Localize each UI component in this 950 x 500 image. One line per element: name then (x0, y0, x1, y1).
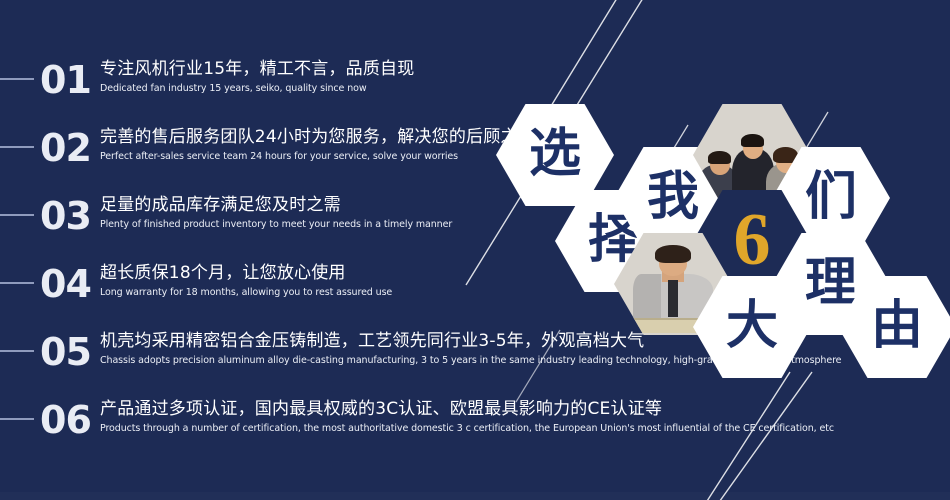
feature-title-en: Long warranty for 18 months, allowing yo… (100, 286, 392, 299)
feature-text-block: 产品通过多项认证，国内最具权威的3C认证、欧盟最具影响力的CE认证等 Produ… (100, 398, 834, 435)
feature-number: 02 (40, 126, 96, 170)
hex-label: 我 (647, 171, 699, 223)
feature-dash (0, 350, 34, 352)
bottom-band (0, 492, 950, 500)
feature-number: 04 (40, 262, 96, 306)
hex-label: 由 (871, 300, 923, 352)
hex-accent-number: 6 (734, 203, 771, 277)
feature-title-cn: 专注风机行业15年，精工不言，品质自现 (100, 58, 414, 81)
banner-stage: 01 专注风机行业15年，精工不言，品质自现 Dedicated fan ind… (0, 0, 950, 500)
feature-item: 03 足量的成品库存满足您及时之需 Plenty of finished pro… (0, 188, 452, 244)
feature-number: 01 (40, 58, 96, 102)
feature-item: 06 产品通过多项认证，国内最具权威的3C认证、欧盟最具影响力的CE认证等 Pr… (0, 392, 834, 448)
hex-label: 理 (805, 257, 857, 309)
feature-text-block: 足量的成品库存满足您及时之需 Plenty of finished produc… (100, 194, 452, 231)
feature-title-cn: 产品通过多项认证，国内最具权威的3C认证、欧盟最具影响力的CE认证等 (100, 398, 834, 421)
feature-item: 02 完善的售后服务团队24小时为您服务，解决您的后顾之忧 Perfect af… (0, 120, 535, 176)
feature-title-en: Plenty of finished product inventory to … (100, 218, 452, 231)
feature-dash (0, 146, 34, 148)
feature-text-block: 超长质保18个月，让您放心使用 Long warranty for 18 mon… (100, 262, 392, 299)
feature-item: 01 专注风机行业15年，精工不言，品质自现 Dedicated fan ind… (0, 52, 414, 108)
feature-title-en: Dedicated fan industry 15 years, seiko, … (100, 82, 414, 95)
hex-label: 选 (529, 128, 581, 180)
feature-number: 05 (40, 330, 96, 374)
feature-title-cn: 足量的成品库存满足您及时之需 (100, 194, 452, 217)
feature-dash (0, 78, 34, 80)
feature-item: 04 超长质保18个月，让您放心使用 Long warranty for 18 … (0, 256, 392, 312)
feature-dash (0, 282, 34, 284)
feature-number: 06 (40, 398, 96, 442)
feature-title-en: Perfect after-sales service team 24 hour… (100, 150, 535, 163)
feature-dash (0, 418, 34, 420)
hex-label: 们 (805, 171, 857, 223)
feature-number: 03 (40, 194, 96, 238)
feature-title-cn: 超长质保18个月，让您放心使用 (100, 262, 392, 285)
feature-dash (0, 214, 34, 216)
feature-text-block: 完善的售后服务团队24小时为您服务，解决您的后顾之忧 Perfect after… (100, 126, 535, 163)
feature-title-en: Products through a number of certificati… (100, 422, 834, 435)
feature-title-cn: 完善的售后服务团队24小时为您服务，解决您的后顾之忧 (100, 126, 535, 149)
feature-text-block: 专注风机行业15年，精工不言，品质自现 Dedicated fan indust… (100, 58, 414, 95)
hex-label: 大 (726, 300, 778, 352)
